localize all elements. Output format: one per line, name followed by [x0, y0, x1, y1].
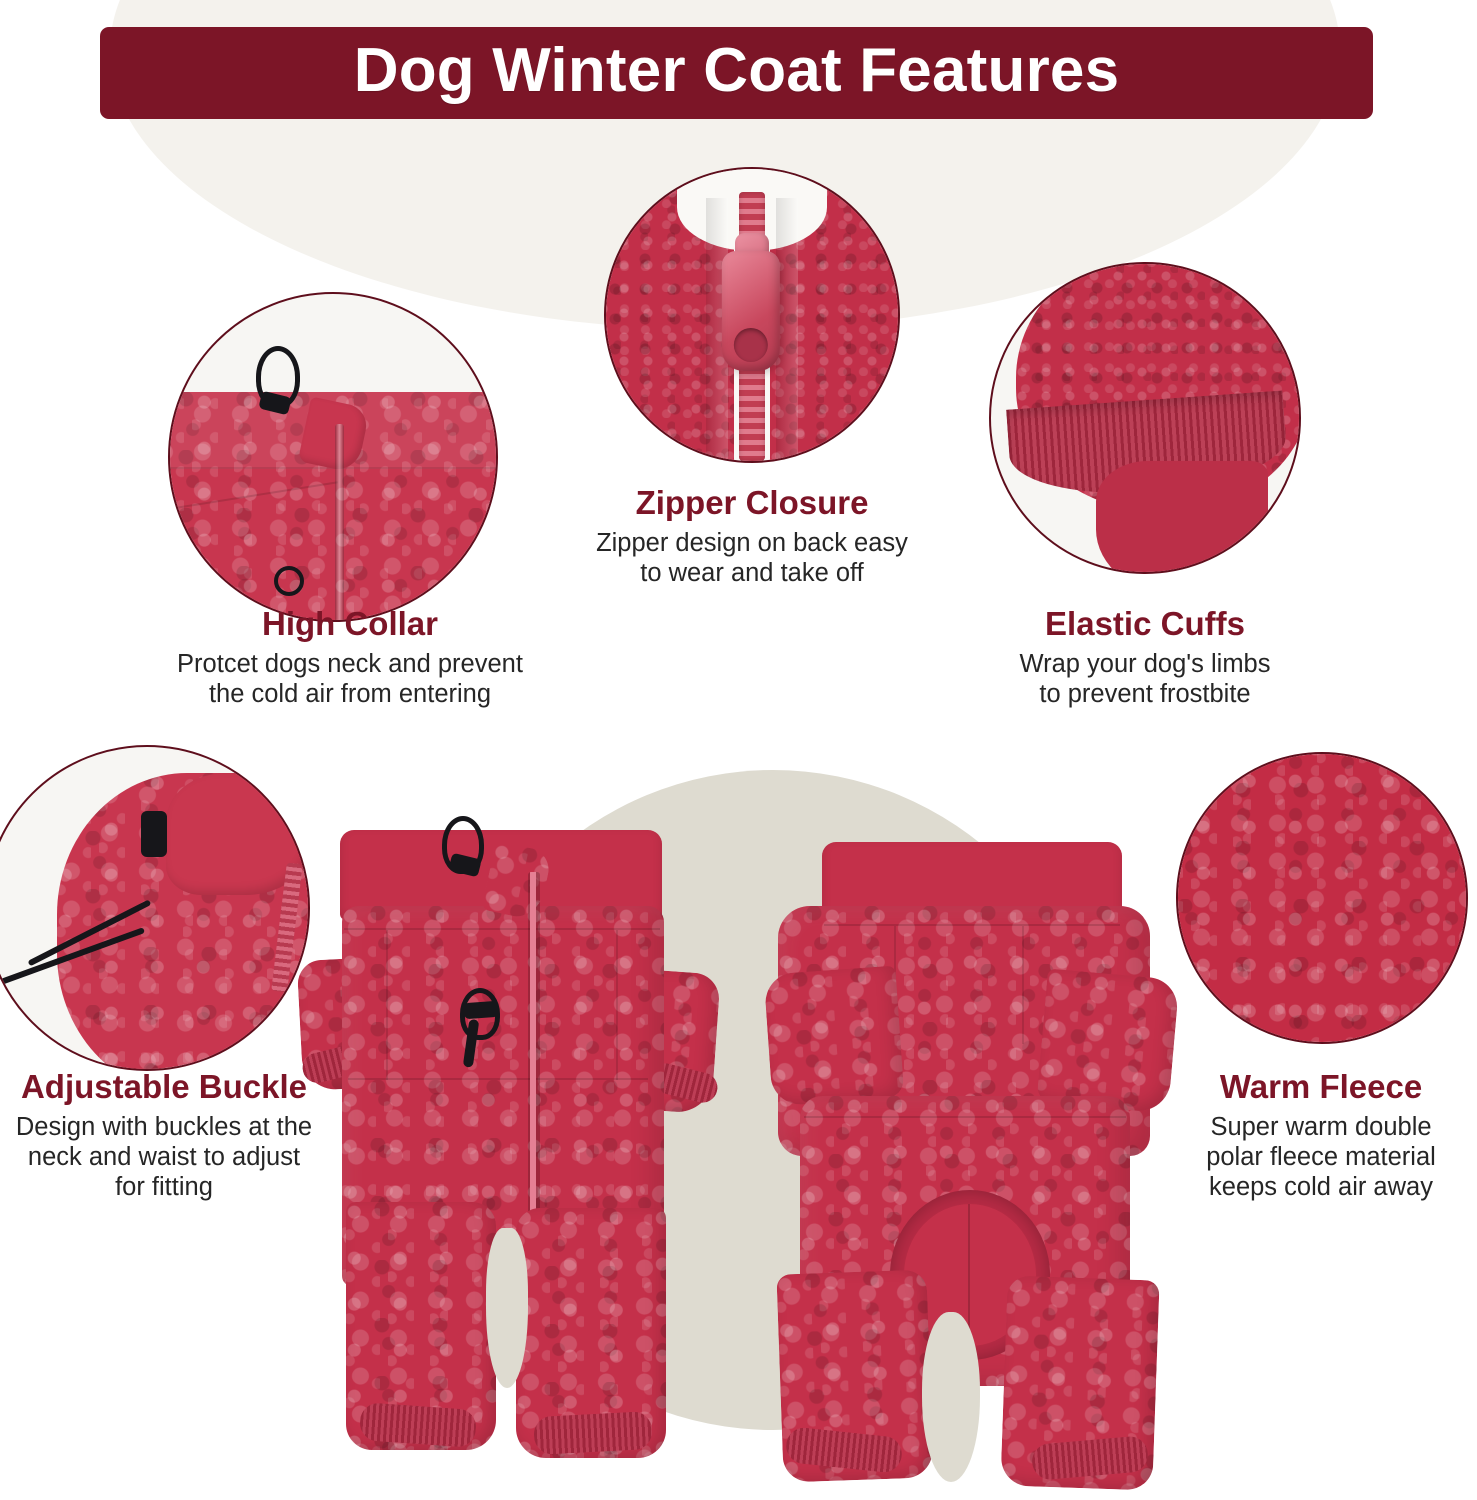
- feature-desc-line: for fitting: [115, 1173, 213, 1201]
- collar-photo-inner: [170, 294, 496, 620]
- back-collar-seam: [824, 924, 1120, 926]
- feature-desc-zipper-closure: Zipper design on back easy to wear and t…: [532, 528, 972, 588]
- front-crotch-gap: [486, 1228, 528, 1388]
- back-crotch-gap: [922, 1312, 980, 1482]
- feature-high-collar: High Collar Protcet dogs neck and preven…: [130, 605, 570, 709]
- feature-title-warm-fleece: Warm Fleece: [1165, 1068, 1477, 1106]
- front-right-leg-cuff-rib: [533, 1411, 653, 1455]
- back-body-seam: [804, 1116, 1126, 1118]
- front-waist-cord-toggle-icon: [463, 1001, 498, 1019]
- feature-desc-line: Protcet dogs neck and prevent: [177, 650, 523, 678]
- feature-desc-line: Super warm double: [1210, 1113, 1431, 1141]
- feature-desc-line: keeps cold air away: [1209, 1173, 1433, 1201]
- back-left-sleeve: [764, 966, 905, 1107]
- back-right-panel-seam: [1022, 926, 1024, 1044]
- title-banner: Dog Winter Coat Features: [100, 27, 1373, 119]
- page-title: Dog Winter Coat Features: [354, 40, 1120, 102]
- front-left-panel-seam: [386, 930, 388, 1080]
- feature-title-high-collar: High Collar: [130, 605, 570, 643]
- feature-desc-warm-fleece: Super warm double polar fleece material …: [1165, 1112, 1477, 1202]
- feature-title-elastic-cuffs: Elastic Cuffs: [943, 605, 1347, 643]
- buckle-closeup-photo: [0, 745, 310, 1071]
- front-right-panel-seam: [616, 930, 618, 1080]
- feature-desc-elastic-cuffs: Wrap your dog's limbs to prevent frostbi…: [943, 649, 1347, 709]
- front-left-leg-cuff-rib: [359, 1402, 477, 1448]
- feature-desc-line: the cold air from entering: [209, 680, 491, 708]
- feature-desc-line: to wear and take off: [640, 559, 864, 587]
- back-rear-center-seam: [968, 1204, 970, 1340]
- feature-desc-line: to prevent frostbite: [1039, 680, 1250, 708]
- dog-coat-front-view-photo: [300, 810, 720, 1500]
- feature-desc-line: neck and waist to adjust: [28, 1143, 300, 1171]
- cord-lock-buckle-icon: [141, 811, 167, 857]
- cuff-sleeve-tail: [1096, 461, 1268, 572]
- front-waist-seam: [348, 1078, 648, 1080]
- fleece-texture-photo: [1176, 752, 1468, 1044]
- dog-coat-back-view-photo: [770, 820, 1170, 1500]
- feature-desc-adjustable-buckle: Design with buckles at the neck and wais…: [4, 1112, 324, 1202]
- back-right-sleeve: [1036, 969, 1179, 1114]
- buckle-photo-inner: [0, 747, 308, 1069]
- feature-desc-line: Wrap your dog's limbs: [1020, 650, 1271, 678]
- cuff-photo-inner: [991, 264, 1299, 572]
- feature-desc-line: Design with buckles at the: [16, 1113, 312, 1141]
- fleece-texture-swatch: [1178, 754, 1466, 1042]
- collar-zipper: [335, 424, 344, 620]
- fleece-photo-inner: [1178, 754, 1466, 1042]
- feature-desc-high-collar: Protcet dogs neck and prevent the cold a…: [130, 649, 570, 709]
- front-yoke-seam: [344, 928, 660, 930]
- feature-warm-fleece: Warm Fleece Super warm double polar flee…: [1165, 1068, 1477, 1202]
- feature-desc-line: Zipper design on back easy: [596, 529, 908, 557]
- collar-closeup-photo: [168, 292, 498, 622]
- feature-title-zipper-closure: Zipper Closure: [532, 484, 972, 522]
- zipper-photo-inner: [606, 169, 898, 461]
- feature-elastic-cuffs: Elastic Cuffs Wrap your dog's limbs to p…: [943, 605, 1347, 709]
- cuff-closeup-photo: [989, 262, 1301, 574]
- feature-title-adjustable-buckle: Adjustable Buckle: [4, 1068, 324, 1106]
- zipper-slider-icon: [722, 251, 780, 371]
- lower-cord-loop-icon: [274, 566, 304, 596]
- infographic-page: Dog Winter Coat Features: [0, 0, 1477, 1500]
- feature-desc-line: polar fleece material: [1206, 1143, 1436, 1171]
- feature-zipper-closure: Zipper Closure Zipper design on back eas…: [532, 484, 972, 588]
- zipper-closeup-photo: [604, 167, 900, 463]
- feature-adjustable-buckle: Adjustable Buckle Design with buckles at…: [4, 1068, 324, 1202]
